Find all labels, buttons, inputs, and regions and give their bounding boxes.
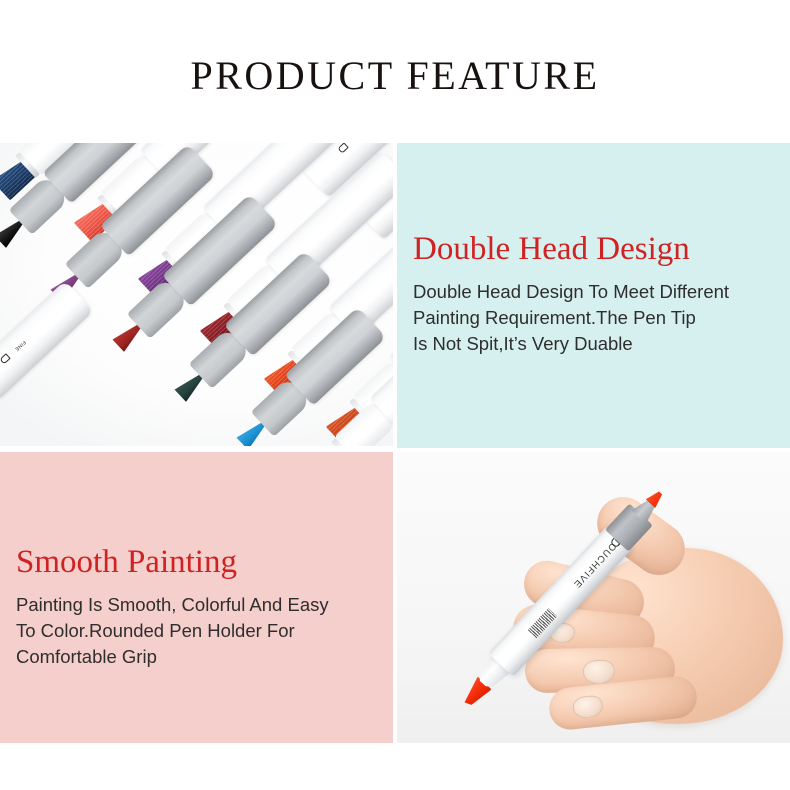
feature-body-line: Is Not Spit,It’s Very Duable — [413, 331, 780, 357]
feature-body-line: Painting Requirement.The Pen Tip — [413, 305, 780, 331]
marker-body — [0, 280, 94, 399]
feature-panel-smooth-painting: Smooth Painting Painting Is Smooth, Colo… — [0, 452, 393, 743]
marker-array-photo: BROAD BROAD — [0, 143, 393, 446]
feature-text-block: Double Head Design Double Head Design To… — [413, 231, 780, 358]
feature-body-line: To Color.Rounded Pen Holder For — [16, 618, 383, 644]
feature-body-line: Double Head Design To Meet Different — [413, 279, 780, 305]
page-title: PRODUCT FEATURE — [0, 52, 790, 99]
feature-text-block: Smooth Painting Painting Is Smooth, Colo… — [16, 544, 383, 671]
hand-holding-marker-photo: TOUCHFIVE — [397, 452, 790, 743]
feature-heading: Double Head Design — [413, 231, 780, 268]
feature-body: Painting Is Smooth, Colorful And Easy To… — [16, 592, 383, 671]
feature-body-line: Painting Is Smooth, Colorful And Easy — [16, 592, 383, 618]
product-feature-page: PRODUCT FEATURE BROAD BROAD — [0, 0, 790, 790]
feature-heading: Smooth Painting — [16, 544, 383, 581]
feature-body-line: Comfortable Grip — [16, 644, 383, 670]
feature-panel-double-head-design: Double Head Design Double Head Design To… — [397, 143, 790, 448]
barcode — [528, 608, 557, 638]
feature-body: Double Head Design To Meet Different Pai… — [413, 279, 780, 358]
marker-array-scene: BROAD BROAD — [0, 143, 393, 446]
hand-scene: TOUCHFIVE — [397, 452, 790, 743]
